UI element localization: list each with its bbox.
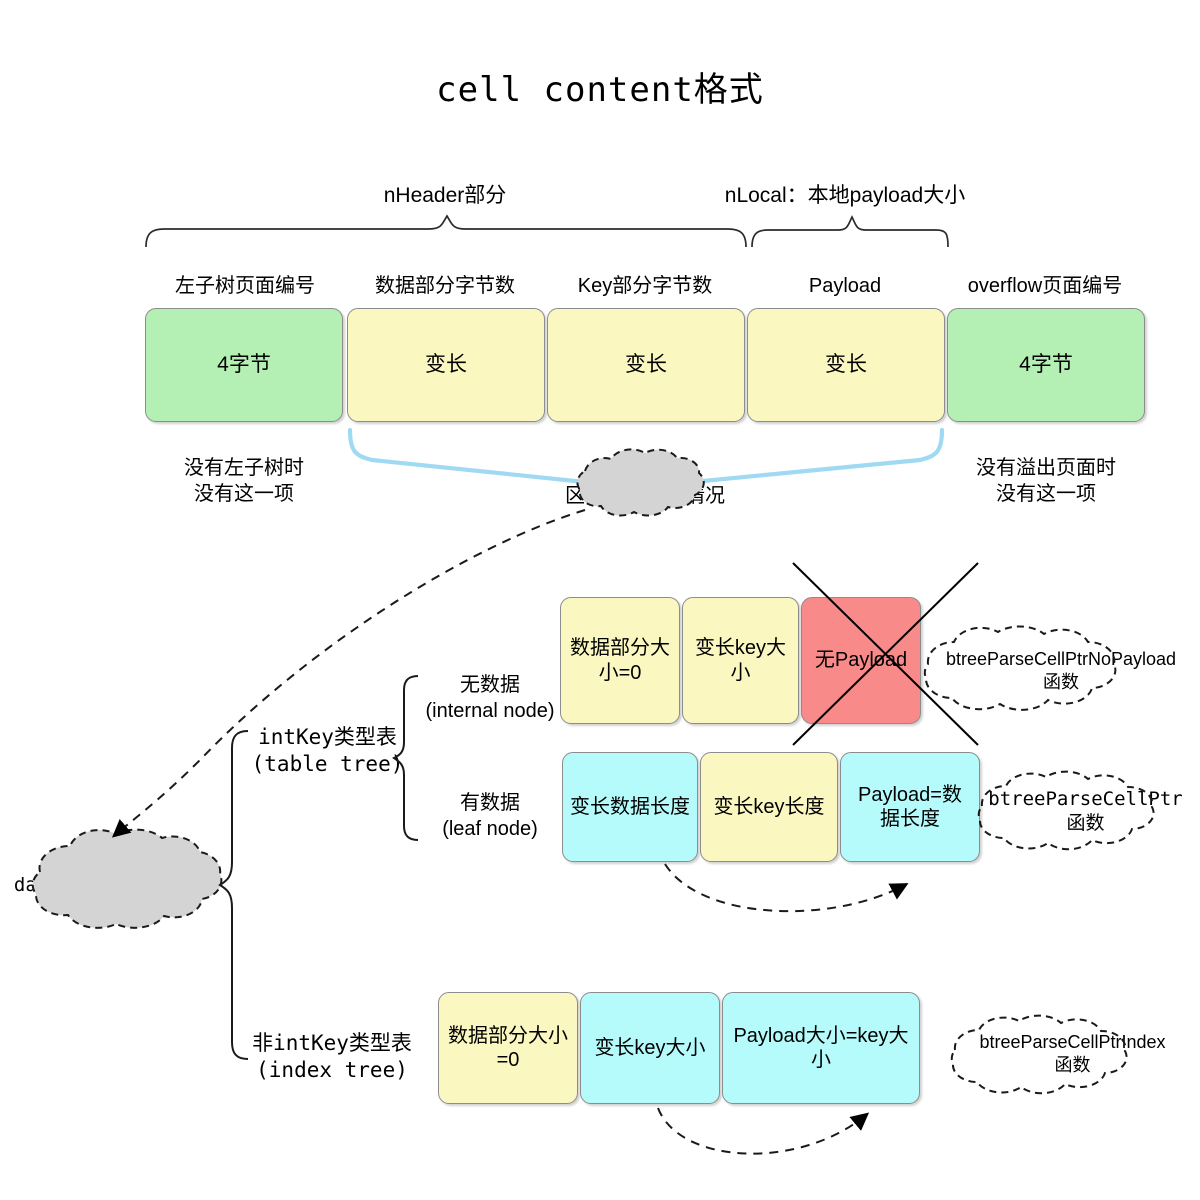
fn-no-payload-suffix: 函数 (1043, 671, 1079, 694)
cell-box-key-bytes: 变长 (547, 308, 745, 422)
cell-header-payload: Payload (745, 273, 945, 299)
cloud-label-three-cases: 区分以下三种情况 (550, 477, 740, 517)
page-title: cell content格式 (0, 62, 1200, 111)
brace-label-nlocal: nLocal：本地payload大小 (695, 182, 995, 209)
cell-header-key-bytes: Key部分字节数 (545, 273, 745, 299)
index-box-data-size: 数据部分大小 =0 (438, 992, 578, 1104)
cloud-relation-line2: data、key、payload (14, 873, 212, 897)
internal-box-no-payload: 无Payload (801, 597, 921, 724)
tree-label-leaf-node: 有数据 (leaf node) (420, 790, 560, 842)
footnote-left: 没有左子树时 没有这一项 (145, 455, 343, 507)
cloud-relation-line1: 不同类型表中 (59, 850, 167, 873)
cell-box-payload: 变长 (747, 308, 945, 422)
fn-index-name: btreeParseCellPtrIndex (979, 1031, 1165, 1054)
brace-nheader (146, 216, 746, 247)
leaf-box-key-length: 变长key长度 (700, 752, 838, 862)
brace-nlocal (752, 217, 948, 247)
tree-label-intkey: intKey类型表 (table tree) (240, 724, 415, 779)
cloud-label-fn-index: btreeParseCellPtrIndex 函数 (950, 1024, 1195, 1084)
cell-header-overflow: overflow页面编号 (945, 273, 1145, 299)
cloud-relation-line3: 关系 (95, 897, 131, 920)
fn-cell-ptr-name: btreeParseCellPtr (988, 787, 1182, 811)
cell-box-overflow: 4字节 (947, 308, 1145, 422)
leaf-box-payload-length: Payload=数 据长度 (840, 752, 980, 862)
leaf-box-data-length: 变长数据长度 (562, 752, 698, 862)
cloud-label-fn-cell-ptr: btreeParseCellPtr 函数 (978, 780, 1193, 842)
tree-label-internal-node: 无数据 (internal node) (420, 672, 560, 724)
internal-box-data-size: 数据部分大 小=0 (560, 597, 680, 724)
internal-box-key-size: 变长key大 小 (682, 597, 799, 724)
brace-label-nheader: nHeader部分 (295, 182, 595, 209)
cell-box-left-child: 4字节 (145, 308, 343, 422)
tree-label-non-intkey: 非intKey类型表 (index tree) (242, 1030, 422, 1085)
fn-index-suffix: 函数 (1055, 1054, 1091, 1077)
footnote-right: 没有溢出页面时 没有这一项 (947, 455, 1145, 507)
cloud-label-relation: 不同类型表中 data、key、payload 关系 (8, 845, 218, 925)
brace-tree-types (220, 731, 248, 1059)
arrow-leaf-data-to-payload (665, 864, 905, 911)
arrow-index-key-to-payload (658, 1108, 866, 1154)
fn-cell-ptr-suffix: 函数 (1066, 811, 1104, 835)
cell-header-left-child: 左子树页面编号 (145, 273, 345, 299)
index-box-payload-size: Payload大小=key大 小 (722, 992, 920, 1104)
cell-box-data-bytes: 变长 (347, 308, 545, 422)
index-box-key-size: 变长key大小 (580, 992, 720, 1104)
cloud-label-fn-no-payload: btreeParseCellPtrNoPayload 函数 (925, 640, 1197, 702)
fn-no-payload-name: btreeParseCellPtrNoPayload (946, 648, 1176, 671)
cell-header-data-bytes: 数据部分字节数 (345, 273, 545, 299)
